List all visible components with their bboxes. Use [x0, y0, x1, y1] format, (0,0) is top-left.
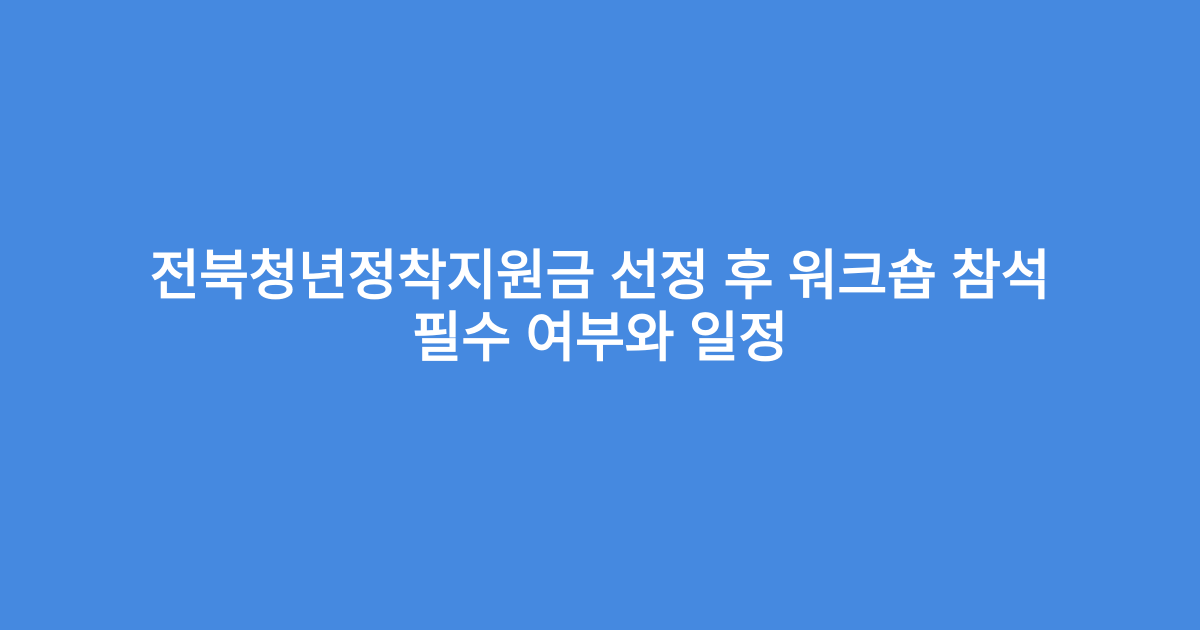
- og-card-canvas: 전북청년정착지원금 선정 후 워크숍 참석 필수 여부와 일정: [0, 0, 1200, 630]
- title-block: 전북청년정착지원금 선정 후 워크숍 참석 필수 여부와 일정: [95, 245, 1105, 369]
- page-title: 전북청년정착지원금 선정 후 워크숍 참석 필수 여부와 일정: [105, 245, 1095, 369]
